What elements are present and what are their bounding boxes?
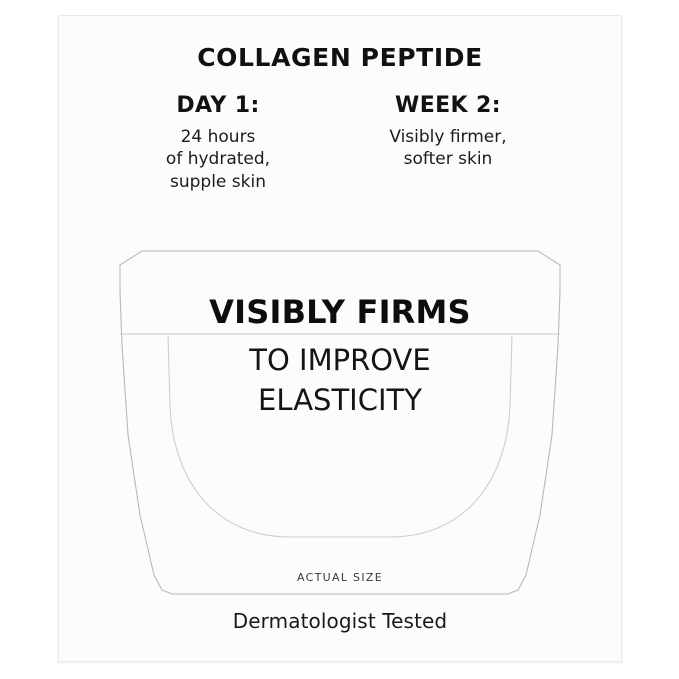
dermatologist-tested-label: Dermatologist Tested (58, 609, 622, 633)
product-claim-panel: COLLAGEN PEPTIDE DAY 1: 24 hours of hydr… (0, 0, 679, 679)
actual-size-label: ACTUAL SIZE (58, 571, 622, 584)
jar-headline: VISIBLY FIRMS (58, 296, 622, 330)
jar-subline: TO IMPROVE ELASTICITY (58, 340, 622, 420)
cosmetic-jar-outline-icon (58, 15, 622, 662)
